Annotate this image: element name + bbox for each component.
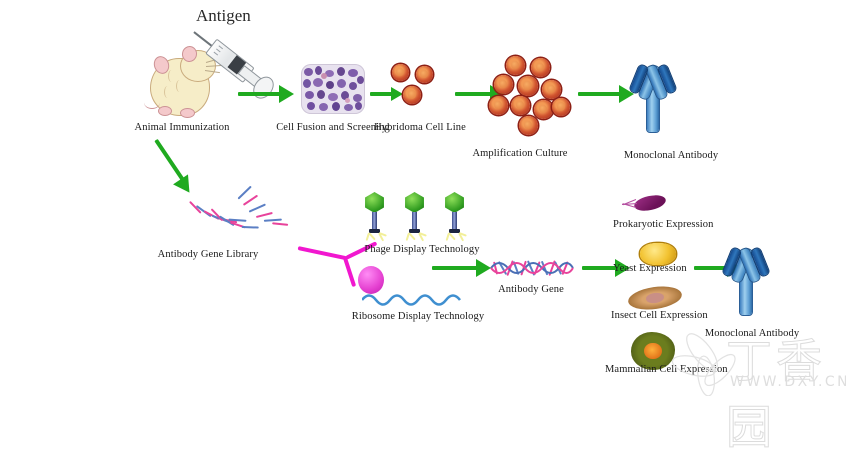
yeast-expression-icon xyxy=(640,243,676,265)
label-antibody-gene-library: Antibody Gene Library xyxy=(158,249,259,261)
amplification-culture-cells xyxy=(489,56,575,142)
cell-fusion-micrograph xyxy=(301,64,365,114)
label-phage-display-technology: Phage Display Technology xyxy=(364,244,479,256)
label-cell-fusion-screening: Cell Fusion and Screening xyxy=(276,122,390,134)
insect-cell-expression-icon xyxy=(627,283,684,312)
label-insect-cell-expression: Insect Cell Expression xyxy=(611,310,708,322)
hybridoma-cells xyxy=(392,62,444,114)
antibody-gene-library-icon xyxy=(188,186,312,242)
prokaryotic-expression-icon xyxy=(622,194,670,216)
phage-display-icons xyxy=(360,192,472,244)
antibody-gene-helix xyxy=(489,256,575,280)
watermark-brand: 丁香园 xyxy=(726,325,846,457)
diagram-canvas: Antigen Animal Immunization xyxy=(0,0,846,400)
label-animal-immunization: Animal Immunization xyxy=(135,122,230,134)
watermark-url: WWW.DXY.CN xyxy=(730,374,846,390)
label-yeast-expression: Yeast Expression xyxy=(613,263,687,275)
label-antibody-gene: Antibody Gene xyxy=(498,284,564,296)
label-hybridoma-cell-line: Hybridoma Cell Line xyxy=(374,122,466,134)
ribosome-display-icon xyxy=(358,266,468,306)
label-monoclonal-antibody-top: Monoclonal Antibody xyxy=(624,150,718,162)
label-ribosome-display-technology: Ribosome Display Technology xyxy=(352,311,484,323)
mrna-strand xyxy=(362,290,470,310)
label-prokaryotic-expression: Prokaryotic Expression xyxy=(613,219,713,231)
label-amplification-culture: Amplification Culture xyxy=(472,148,567,160)
syringe-icon xyxy=(176,6,286,116)
monoclonal-antibody-bottom-icon xyxy=(717,241,775,317)
monoclonal-antibody-top-icon xyxy=(624,58,682,134)
